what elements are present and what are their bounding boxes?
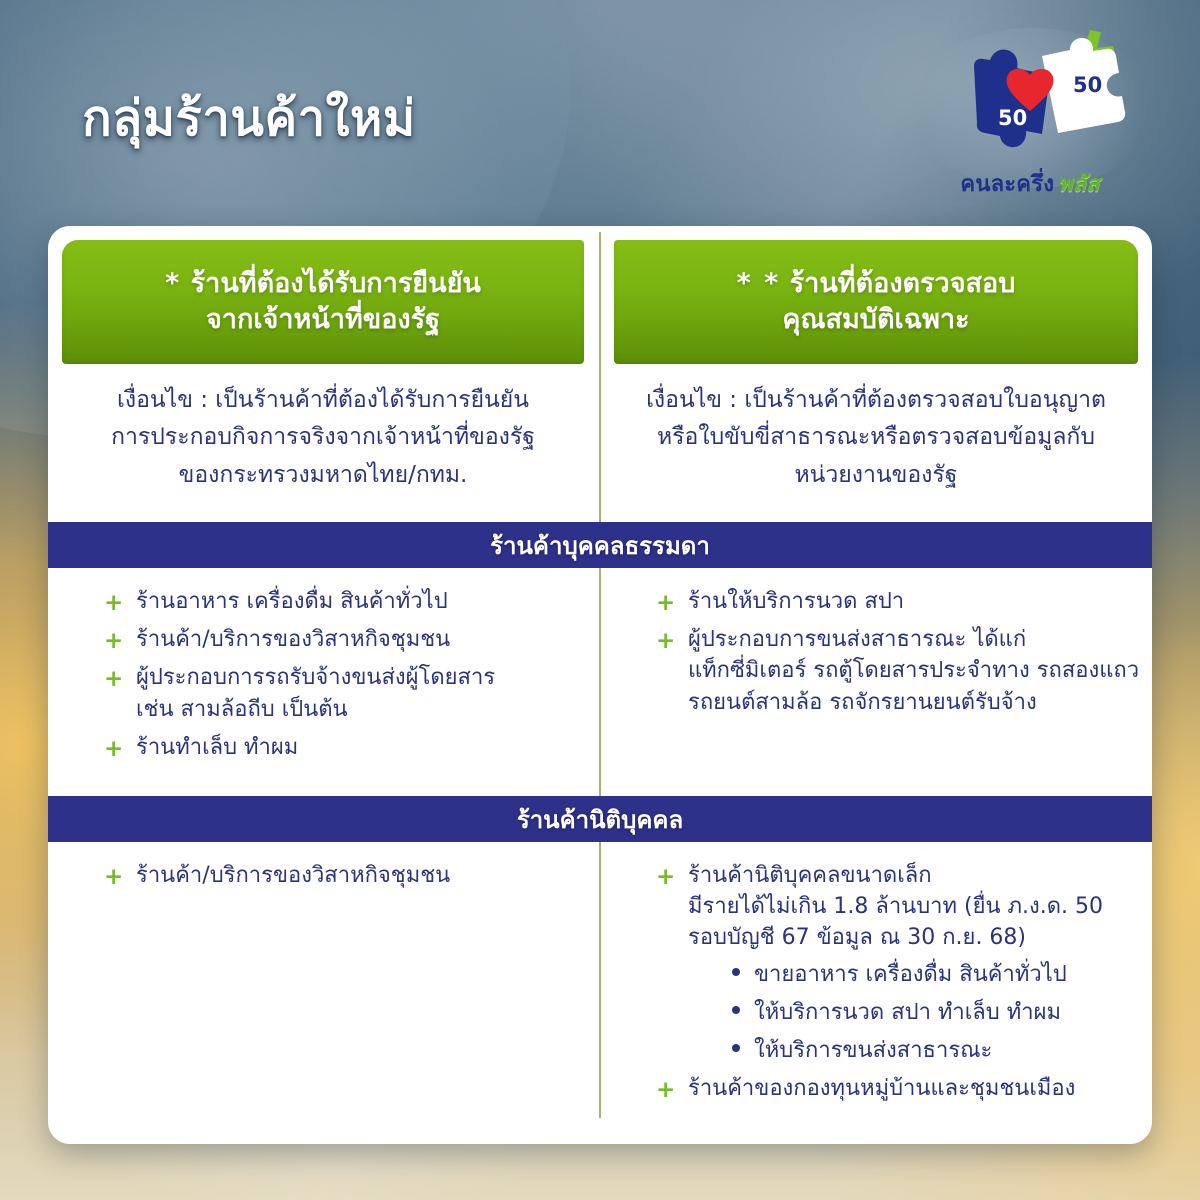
- condition-left-line1: เงื่อนไข : เป็นร้านค้าที่ต้องได้รับการยื…: [117, 387, 529, 413]
- plus-bullet-icon: +: [104, 861, 123, 894]
- header-left-line2: จากเจ้าหน้าที่ของรัฐ: [206, 304, 440, 335]
- condition-right-line3: หน่วยงานของรัฐ: [795, 462, 958, 488]
- plus-bullet-icon: +: [104, 733, 123, 766]
- list-item-label: ร้านอาหาร เครื่องดื่ม สินค้าทั่วไป: [136, 589, 448, 614]
- header-right-line2: คุณสมบัติเฉพาะ: [782, 304, 969, 335]
- list-item-label: ร้านให้บริการนวด สปา: [688, 589, 904, 614]
- list-item: + ร้านค้านิติบุคคลขนาดเล็ก มีรายได้ไม่เก…: [656, 860, 1152, 1066]
- list-item-label: ร้านทำเล็บ ทำผม: [136, 735, 298, 760]
- condition-left: เงื่อนไข : เป็นร้านค้าที่ต้องได้รับการยื…: [62, 378, 584, 498]
- header-right-qualification: * * ร้านที่ต้องตรวจสอบ คุณสมบัติเฉพาะ: [614, 240, 1138, 364]
- dot-bullet-icon: [732, 968, 740, 976]
- plus-bullet-icon: +: [104, 625, 123, 658]
- dot-bullet-icon: [732, 1044, 740, 1052]
- condition-right-line2: หรือใบขับขี่สาธารณะหรือตรวจสอบข้อมูลกับ: [657, 424, 1095, 450]
- right-piece-50: 50: [1073, 73, 1102, 97]
- list-item-label: ผู้ประกอบการรถรับจ้างขนส่งผู้โดยสาร: [136, 665, 495, 690]
- sub-list-item-label: ให้บริการขนส่งสาธารณะ: [754, 1038, 992, 1063]
- sub-list: ขายอาหาร เครื่องดื่ม สินค้าทั่วไป ให้บริ…: [732, 959, 1152, 1067]
- condition-left-line2: การประกอบกิจการจริงจากเจ้าหน้าที่ของรัฐ: [111, 424, 535, 450]
- list-item-label: ร้านค้า/บริการของวิสาหกิจชุมชน: [136, 863, 450, 888]
- sub-list-item: ให้บริการขนส่งสาธารณะ: [732, 1035, 1152, 1066]
- condition-right-line1: เงื่อนไข : เป็นร้านค้าที่ต้องตรวจสอบใบอน…: [646, 387, 1106, 413]
- program-logo: 50 50 คนละครึ่งพลัส: [930, 26, 1130, 206]
- list-item-label: ร้านค้านิติบุคคลขนาดเล็ก: [688, 863, 932, 888]
- list-item-continuation-2: รถยนต์สามล้อ รถจักรยานยนต์รับจ้าง: [688, 687, 1152, 718]
- plus-bullet-icon: +: [656, 1074, 675, 1107]
- sub-list-item: ขายอาหาร เครื่องดื่ม สินค้าทั่วไป: [732, 959, 1152, 990]
- list-item: + ร้านให้บริการนวด สปา: [656, 586, 1152, 617]
- list-juristic-right: + ร้านค้านิติบุคคลขนาดเล็ก มีรายได้ไม่เก…: [656, 860, 1152, 1112]
- list-item-continuation: แท็กซี่มิเตอร์ รถตู้โดยสารประจำทาง รถสอง…: [688, 655, 1152, 686]
- list-item: + ร้านอาหาร เครื่องดื่ม สินค้าทั่วไป: [104, 586, 594, 617]
- sub-list-item-label: ให้บริการนวด สปา ทำเล็บ ทำผม: [754, 1000, 1061, 1025]
- list-personal-left: + ร้านอาหาร เครื่องดื่ม สินค้าทั่วไป + ร…: [104, 586, 594, 770]
- column-divider: [599, 232, 601, 1118]
- green-headers-row: * ร้านที่ต้องได้รับการยืนยัน จากเจ้าหน้า…: [48, 240, 1152, 364]
- list-personal-right: + ร้านให้บริการนวด สปา + ผู้ประกอบการขนส…: [656, 586, 1152, 725]
- list-item-continuation-2: รอบบัญชี 67 ข้อมูล ณ 30 ก.ย. 68): [688, 922, 1152, 953]
- plus-bullet-icon: +: [656, 587, 675, 620]
- header-left-line1: ร้านที่ต้องได้รับการยืนยัน: [191, 268, 481, 299]
- sub-list-item: ให้บริการนวด สปา ทำเล็บ ทำผม: [732, 997, 1152, 1028]
- header-left-asterisk: *: [165, 268, 181, 299]
- plus-bullet-icon: +: [656, 861, 675, 894]
- list-item-continuation: มีรายได้ไม่เกิน 1.8 ล้านบาท (ยื่น ภ.ง.ด.…: [688, 891, 1152, 922]
- list-item: + ผู้ประกอบการรถรับจ้างขนส่งผู้โดยสาร เช…: [104, 662, 594, 724]
- list-item-label: ร้านค้า/บริการของวิสาหกิจชุมชน: [136, 627, 450, 652]
- list-item-label: ผู้ประกอบการขนส่งสาธารณะ ได้แก่: [688, 627, 1026, 652]
- header-left-verification: * ร้านที่ต้องได้รับการยืนยัน จากเจ้าหน้า…: [62, 240, 584, 364]
- logo-brand-secondary: พลัส: [1058, 172, 1099, 197]
- puzzle-pieces-icon: 50 50: [930, 26, 1130, 166]
- plus-bullet-icon: +: [104, 587, 123, 620]
- logo-brand-primary: คนละครึ่ง: [960, 172, 1054, 197]
- header-right-line1: ร้านที่ต้องตรวจสอบ: [790, 268, 1016, 299]
- condition-left-line3: ของกระทรวงมหาดไทย/กทม.: [179, 462, 468, 488]
- list-item: + ร้านค้าของกองทุนหมู่บ้านและชุมชนเมือง: [656, 1073, 1152, 1104]
- list-item: + ผู้ประกอบการขนส่งสาธารณะ ได้แก่ แท็กซี…: [656, 624, 1152, 718]
- list-item: + ร้านค้า/บริการของวิสาหกิจชุมชน: [104, 624, 594, 655]
- condition-right: เงื่อนไข : เป็นร้านค้าที่ต้องตรวจสอบใบอน…: [614, 378, 1138, 498]
- list-item-continuation: เช่น สามล้อถีบ เป็นต้น: [136, 694, 594, 725]
- plus-bullet-icon: +: [104, 663, 123, 696]
- plus-bullet-icon: +: [656, 625, 675, 658]
- page-title: กลุ่มร้านค้าใหม่: [82, 92, 416, 146]
- list-item-label: ร้านค้าของกองทุนหมู่บ้านและชุมชนเมือง: [688, 1076, 1075, 1101]
- band-juristic-merchant: ร้านค้านิติบุคคล: [48, 796, 1152, 842]
- list-juristic-left: + ร้านค้า/บริการของวิสาหกิจชุมชน: [104, 860, 594, 898]
- left-piece-50: 50: [998, 106, 1027, 130]
- sub-list-item-label: ขายอาหาร เครื่องดื่ม สินค้าทั่วไป: [754, 962, 1067, 987]
- band-personal-merchant: ร้านค้าบุคคลธรรมดา: [48, 522, 1152, 568]
- dot-bullet-icon: [732, 1006, 740, 1014]
- content-card: * ร้านที่ต้องได้รับการยืนยัน จากเจ้าหน้า…: [48, 226, 1152, 1144]
- list-item: + ร้านทำเล็บ ทำผม: [104, 732, 594, 763]
- header-right-asterisk: * *: [737, 268, 781, 299]
- list-item: + ร้านค้า/บริการของวิสาหกิจชุมชน: [104, 860, 594, 891]
- logo-brand-text: คนละครึ่งพลัส: [930, 166, 1130, 201]
